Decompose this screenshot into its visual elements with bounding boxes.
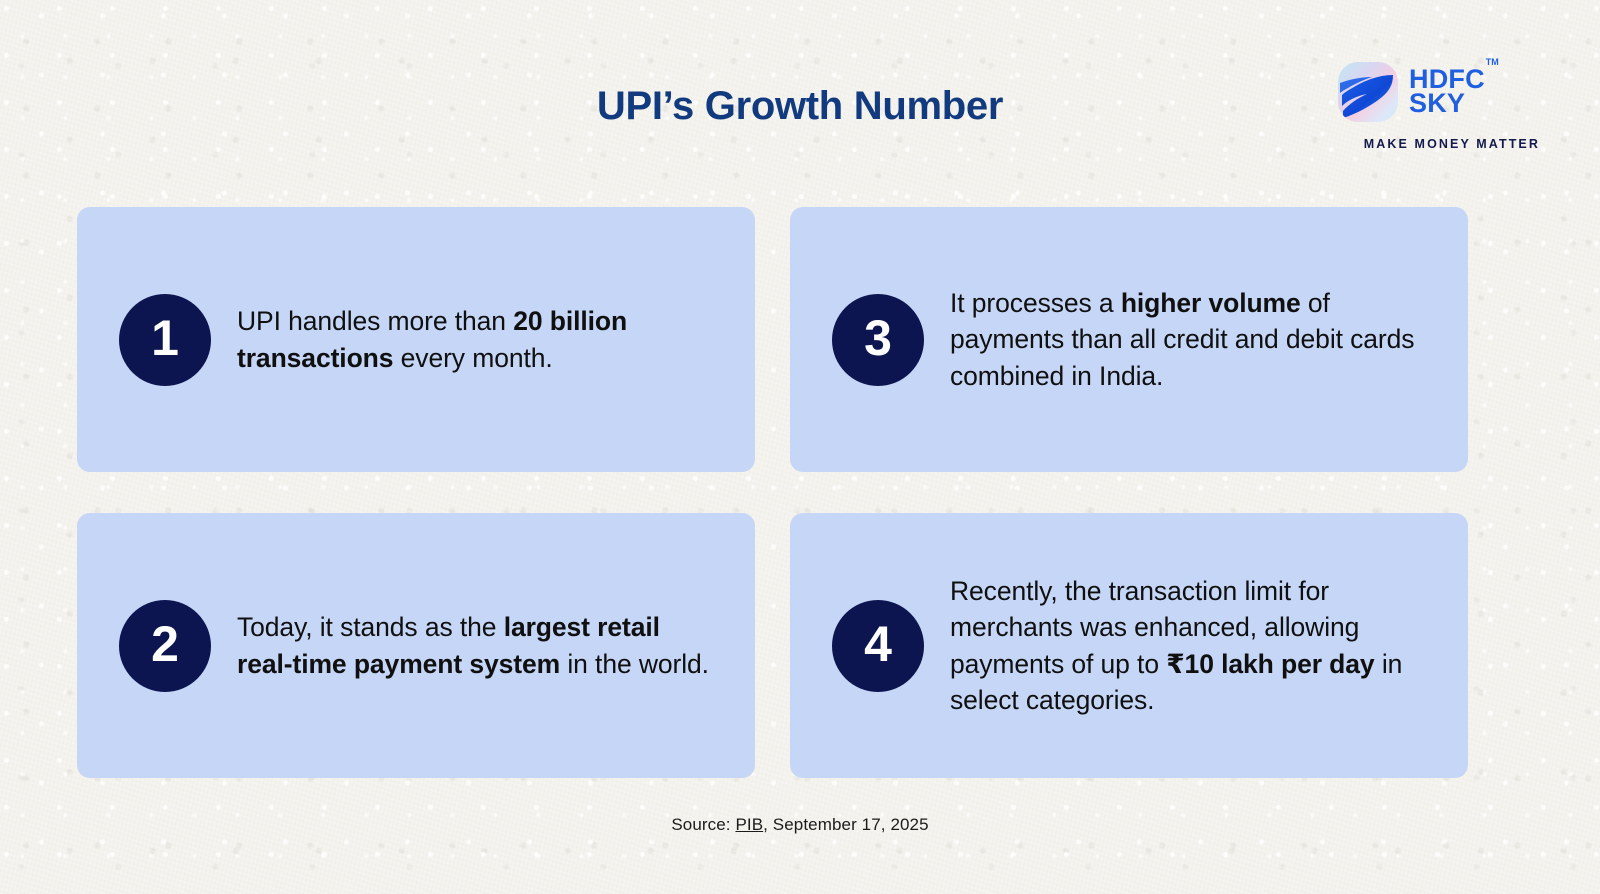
fact-card: 1 UPI handles more than 20 billion trans… <box>77 207 755 472</box>
source-suffix: , September 17, 2025 <box>763 815 929 834</box>
source-note: Source: PIB, September 17, 2025 <box>0 815 1600 835</box>
card-number-badge: 1 <box>119 294 211 386</box>
fact-card: 3 It processes a higher volume of paymen… <box>790 207 1468 472</box>
source-link-pib[interactable]: PIB <box>735 815 763 834</box>
fact-card: 2 Today, it stands as the largest retail… <box>77 513 755 778</box>
card-number-badge: 3 <box>832 294 924 386</box>
fact-card: 4 Recently, the transaction limit for me… <box>790 513 1468 778</box>
fact-cards-grid: 1 UPI handles more than 20 billion trans… <box>77 207 1523 783</box>
trademark-mark: TM <box>1486 59 1499 67</box>
card-text: UPI handles more than 20 billion transac… <box>237 303 721 376</box>
logo-wordmark: HDFC SKY TM <box>1409 68 1485 116</box>
card-text: It processes a higher volume of payments… <box>950 285 1434 394</box>
logo-wordmark-line2: SKY <box>1409 92 1485 116</box>
infographic-page: UPI’s Growth Number HDFC <box>0 0 1600 894</box>
card-text: Recently, the transaction limit for merc… <box>950 573 1434 718</box>
source-prefix: Source: <box>671 815 735 834</box>
brand-logo: HDFC SKY TM MAKE MONEY MATTER <box>1330 56 1540 156</box>
card-text: Today, it stands as the largest retail r… <box>237 609 721 682</box>
hdfc-sky-swoosh-icon <box>1338 62 1398 122</box>
logo-tagline: MAKE MONEY MATTER <box>1330 137 1540 151</box>
logo-row: HDFC SKY TM <box>1330 56 1540 128</box>
card-number-badge: 2 <box>119 600 211 692</box>
card-number-badge: 4 <box>832 600 924 692</box>
